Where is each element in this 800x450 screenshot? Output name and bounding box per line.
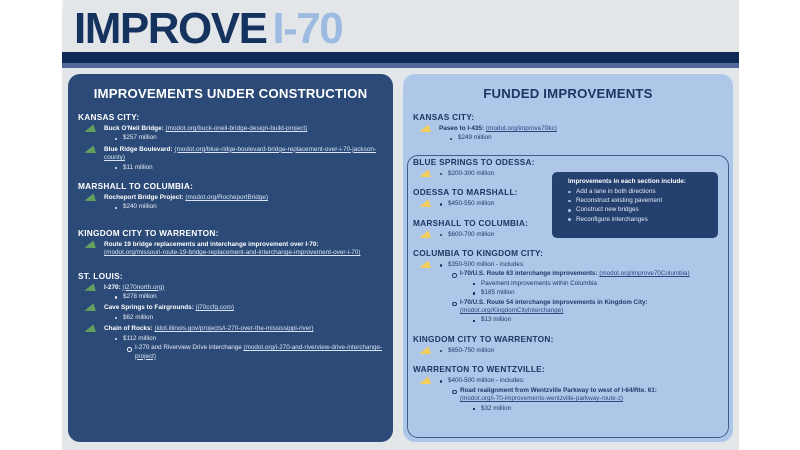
item-label: Cave Springs to Fairgrounds:	[104, 304, 194, 311]
sub-list-item: $650-750 million	[439, 347, 723, 355]
detail-item: Pavement improvements within Columbia	[472, 280, 723, 288]
section-heading-kansas-city: KANSAS CITY:	[413, 112, 723, 122]
sub-sub-list-item: I-70/U.S. Route 54 interchange improveme…	[451, 299, 723, 325]
panel-improvements-under-construction: IMPROVEMENTS UNDER CONSTRUCTION KANSAS C…	[68, 74, 393, 442]
section-heading-kingdom-city-to-warrenton: KINGDOM CITY TO WARRENTON:	[413, 334, 723, 344]
sub-list: $257 million	[114, 134, 383, 142]
arrow-bullet-icon	[418, 377, 431, 388]
header-bar-dark	[62, 52, 739, 63]
sub-list: $278 million	[114, 293, 383, 301]
list-item: Buck O'Neil Bridge: (modot.org/buck-onei…	[78, 125, 383, 143]
right-panel-heading: FUNDED IMPROVEMENTS	[403, 74, 733, 101]
sub-sub-list: I-270 and Riverview Drive interchange (m…	[126, 344, 383, 361]
item-link[interactable]: (modot.org/buck-oneil-bridge-design-buil…	[166, 125, 308, 132]
arrow-bullet-icon	[83, 283, 96, 294]
item-label: Buck O'Neil Bridge:	[104, 125, 164, 132]
callout-title: Improvements in each section include:	[560, 178, 710, 185]
arrow-bullet-icon	[83, 124, 96, 135]
callout-list-item: Construct new bridges	[560, 205, 710, 214]
arrow-bullet-icon	[418, 200, 431, 211]
item-label: I-270:	[104, 284, 121, 291]
section-heading-kansas-city: KANSAS CITY:	[78, 112, 383, 122]
list-item: I-270: (i270north.org) $278 million	[78, 284, 383, 302]
sub-list: $62 million	[114, 314, 383, 322]
panel-funded-improvements: FUNDED IMPROVEMENTS KANSAS CITY: Paseo t…	[403, 74, 733, 442]
item-label: Chain of Rocks:	[104, 325, 153, 332]
sub-sub-sub-list: $32 million	[472, 405, 723, 413]
page-title: IMPROVEI-70	[74, 4, 342, 54]
list-item: $350-500 million - includes: I-70/U.S. R…	[413, 261, 723, 325]
sub-list-item: $112 million	[114, 335, 383, 343]
arrow-bullet-icon	[418, 169, 431, 180]
list-item: Chain of Rocks: (idot.illinois.gov/proje…	[78, 325, 383, 361]
section-heading-blue-springs-to-odessa: BLUE SPRINGS TO ODESSA:	[413, 157, 723, 167]
sub-list: $400-500 million - includes: Road realig…	[439, 377, 723, 413]
title-word-improve: IMPROVE	[74, 4, 266, 53]
item-link[interactable]: (idot.illinois.gov/projects/i-270-over-t…	[154, 325, 313, 332]
item-link[interactable]: (i70ccfg.com)	[196, 304, 234, 311]
sub-list: $650-750 million	[439, 347, 723, 355]
sub-list: $350-500 million - includes: I-70/U.S. R…	[439, 261, 723, 325]
sub-sub-list: Road realignment from Wentzville Parkway…	[451, 387, 723, 413]
callout-list-item: Reconfigure interchanges	[560, 215, 710, 224]
section-heading-warrenton-to-wentzville: WARRENTON TO WENTZVILLE:	[413, 364, 723, 374]
header-bar-mid	[62, 63, 739, 68]
title-word-i70: I-70	[272, 4, 342, 53]
list-item: Route 19 bridge replacements and interch…	[78, 241, 383, 258]
detail-item: $32 million	[472, 405, 723, 413]
item-link[interactable]: (modot.org/RocheportBridge)	[185, 194, 268, 201]
callout-list: Add a lane in both directions Reconstruc…	[560, 187, 710, 224]
item-link[interactable]: (modot.org/missouri-route-19-bridge-repl…	[104, 249, 360, 256]
sub-list-item: $240 million	[114, 203, 383, 211]
section-heading-kingdom-city-to-warrenton: KINGDOM CITY TO WARRENTON:	[78, 228, 383, 238]
sub-sub-list-item: Road realignment from Wentzville Parkway…	[451, 387, 723, 413]
sub-list: $249 million	[449, 134, 723, 142]
sub-item-label: Road realignment from Wentzville Parkway…	[460, 387, 657, 394]
detail-item: $185 million	[472, 289, 723, 297]
arrow-bullet-icon	[418, 124, 431, 135]
sub-sub-list: I-70/U.S. Route 63 interchange improveme…	[451, 270, 723, 324]
list-item: Paseo to I-435: (modot.org/improve70kc) …	[413, 125, 723, 143]
sub-sub-sub-list: $13 million	[472, 316, 723, 324]
sub-list: $240 million	[114, 203, 383, 211]
left-panel-heading: IMPROVEMENTS UNDER CONSTRUCTION	[68, 74, 393, 101]
sub-list-item: $350-500 million - includes:	[439, 261, 723, 269]
sub-item-label: I-70/U.S. Route 63 interchange improveme…	[460, 270, 598, 277]
sub-list: $112 million I-270 and Riverview Drive i…	[114, 335, 383, 361]
detail-item: $13 million	[472, 316, 723, 324]
sub-list-item: $62 million	[114, 314, 383, 322]
list-item: Rocheport Bridge Project: (modot.org/Roc…	[78, 194, 383, 212]
callout-list-item: Add a lane in both directions	[560, 187, 710, 196]
left-panel-body: KANSAS CITY: Buck O'Neil Bridge: (modot.…	[68, 101, 393, 361]
callout-improvements-in-each-section: Improvements in each section include: Ad…	[552, 172, 718, 238]
arrow-bullet-icon	[418, 230, 431, 241]
section-heading-columbia-to-kingdom-city: COLUMBIA TO KINGDOM CITY:	[413, 248, 723, 258]
item-label: Blue Ridge Boulevard:	[104, 146, 173, 153]
sub-list-item: $278 million	[114, 293, 383, 301]
sub-item-link[interactable]: (modot.org/KingdomCityInterchange)	[460, 307, 563, 314]
section-heading-st-louis: ST. LOUIS:	[78, 271, 383, 281]
list-item: $650-750 million	[413, 347, 723, 355]
sub-item-label: I-270 and Riverview Drive interchange	[135, 344, 242, 351]
sub-list-item: $257 million	[114, 134, 383, 142]
list-item: $400-500 million - includes: Road realig…	[413, 377, 723, 413]
list-item: Cave Springs to Fairgrounds: (i70ccfg.co…	[78, 304, 383, 322]
sub-item-label: I-70/U.S. Route 54 interchange improveme…	[460, 299, 648, 306]
arrow-bullet-icon	[83, 325, 96, 336]
section-heading-marshall-to-columbia: MARSHALL TO COLUMBIA:	[78, 181, 383, 191]
sub-item-link[interactable]: (modot.org/improve70Columbia)	[599, 270, 689, 277]
arrow-bullet-icon	[83, 194, 96, 205]
sub-list-item: $249 million	[449, 134, 723, 142]
sub-list-item: $11 million	[114, 164, 383, 172]
item-link[interactable]: (i270north.org)	[122, 284, 164, 291]
right-panel-body: KANSAS CITY: Paseo to I-435: (modot.org/…	[403, 101, 733, 413]
sub-list: $11 million	[114, 164, 383, 172]
sub-item-link[interactable]: (modot.org/i-70-improvements-wentzville-…	[460, 395, 623, 402]
sub-sub-sub-list: Pavement improvements within Columbia $1…	[472, 280, 723, 298]
arrow-bullet-icon	[418, 261, 431, 272]
arrow-bullet-icon	[418, 346, 431, 357]
item-label: Route 19 bridge replacements and interch…	[104, 241, 319, 248]
arrow-bullet-icon	[83, 304, 96, 315]
callout-list-item: Reconstruct existing pavement	[560, 196, 710, 205]
list-item: Blue Ridge Boulevard: (modot.org/blue-ri…	[78, 146, 383, 172]
slide-header: IMPROVEI-70	[62, 0, 739, 60]
item-label: Rocheport Bridge Project:	[104, 194, 184, 201]
arrow-bullet-icon	[83, 240, 96, 251]
sub-list-item: $400-500 million - includes:	[439, 377, 723, 385]
item-label: Paseo to I-435:	[439, 125, 484, 132]
sub-sub-list-item: I-70/U.S. Route 63 interchange improveme…	[451, 270, 723, 297]
arrow-bullet-icon	[83, 145, 96, 156]
slide-root: IMPROVEI-70 IMPROVEMENTS UNDER CONSTRUCT…	[0, 0, 800, 450]
sub-sub-list-item: I-270 and Riverview Drive interchange (m…	[126, 344, 383, 361]
item-link[interactable]: (modot.org/improve70kc)	[486, 125, 557, 132]
